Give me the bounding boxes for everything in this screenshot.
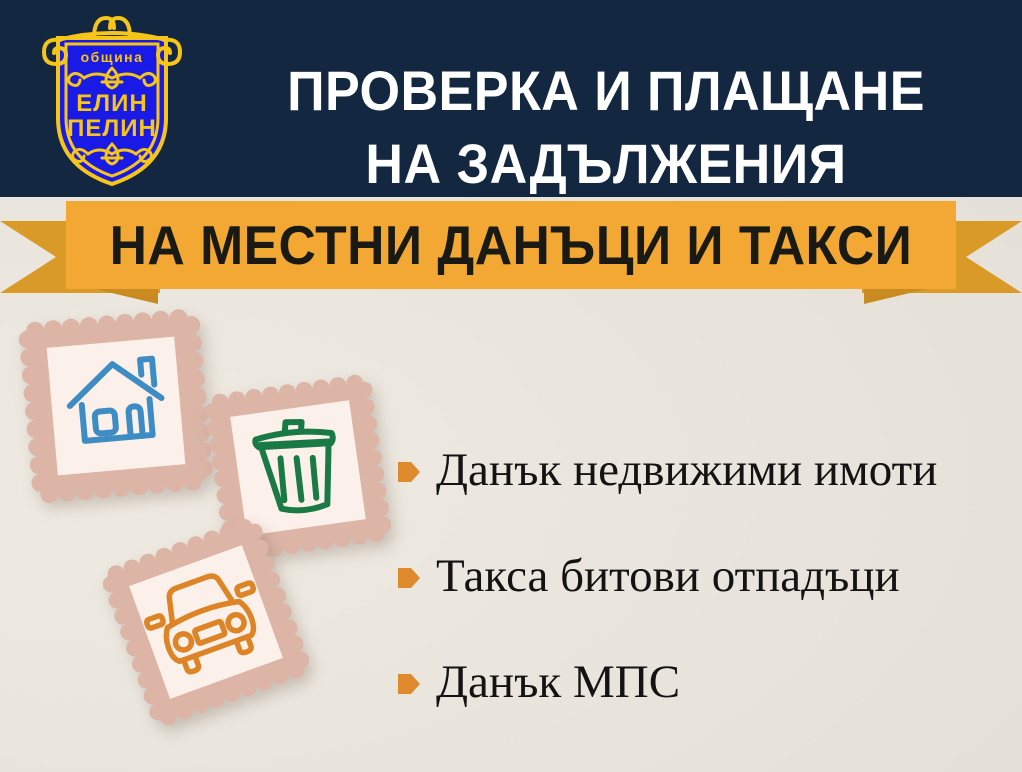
stamp-house: [8, 298, 224, 514]
ribbon-band: НА МЕСТНИ ДАНЪЦИ И ТАКСИ: [66, 201, 956, 289]
list-item-label: Данък МПС: [436, 658, 680, 707]
ribbon-label: НА МЕСТНИ ДАНЪЦИ И ТАКСИ: [110, 218, 913, 273]
list-item[interactable]: Данък недвижими имоти: [398, 418, 1012, 524]
list-item-label: Данък недвижими имоти: [436, 446, 937, 495]
svg-text:ПЕЛИН: ПЕЛИН: [67, 115, 157, 142]
page-title: ПРОВЕРКА И ПЛАЩАНЕ НА ЗАДЪЛЖЕНИЯ: [225, 54, 988, 200]
page-title-line-2: НА ЗАДЪЛЖЕНИЯ: [225, 127, 988, 200]
elin-pelin-coat-of-arms-icon: община ЕЛИН ПЕЛИН: [36, 8, 188, 190]
arrow-pentagon-bullet-icon: [398, 565, 420, 591]
subtitle-ribbon: НА МЕСТНИ ДАНЪЦИ И ТАКСИ: [0, 197, 1022, 307]
stamp-collage: [0, 280, 420, 772]
svg-text:община: община: [81, 49, 144, 65]
list-item[interactable]: Данък МПС: [398, 630, 1012, 736]
page-title-line-1: ПРОВЕРКА И ПЛАЩАНЕ: [287, 59, 925, 122]
poster-header: община ЕЛИН ПЕЛИН: [0, 0, 1022, 197]
svg-text:ЕЛИН: ЕЛИН: [76, 90, 147, 117]
arrow-pentagon-bullet-icon: [398, 459, 420, 485]
list-item-label: Такса битови отпадъци: [436, 552, 900, 601]
stamp-car: [86, 502, 326, 742]
tax-type-list: Данък недвижими имоти Такса битови отпад…: [398, 418, 1012, 736]
arrow-pentagon-bullet-icon: [398, 671, 420, 697]
poster-root: община ЕЛИН ПЕЛИН: [0, 0, 1022, 772]
list-item[interactable]: Такса битови отпадъци: [398, 524, 1012, 630]
